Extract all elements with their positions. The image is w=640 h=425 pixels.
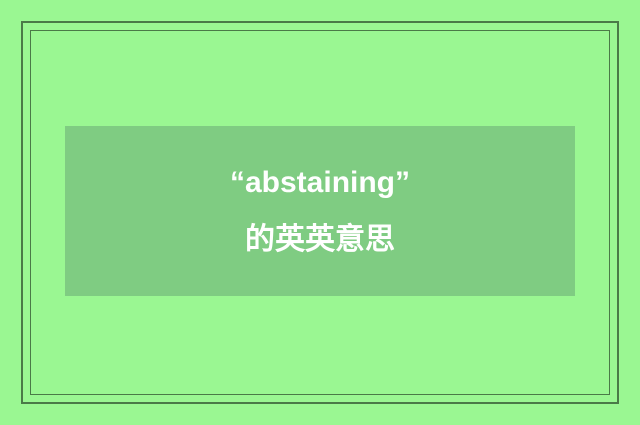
page-canvas: “abstaining”的英英意思 [0,0,640,425]
page-title: “abstaining”的英英意思 [218,154,423,268]
title-card: “abstaining”的英英意思 [65,126,575,296]
